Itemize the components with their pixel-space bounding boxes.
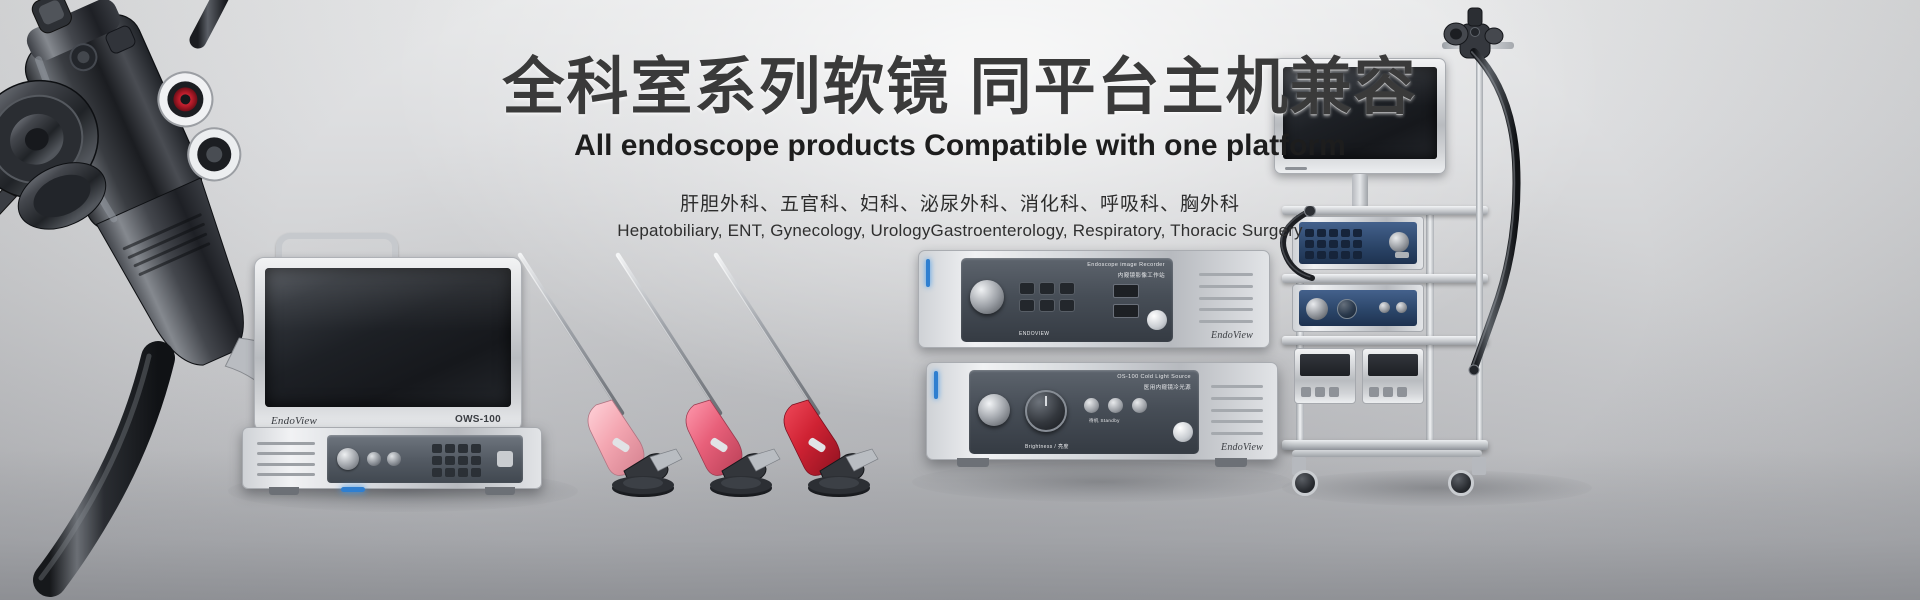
workstation-button-right[interactable]: [497, 451, 513, 467]
recorder-port-hdmi[interactable]: [1113, 304, 1139, 318]
recorder-power-button[interactable]: [1147, 310, 1167, 330]
lightsource-button-labels: 待机 Standby: [1089, 418, 1147, 424]
recorder-main-dial[interactable]: [970, 280, 1004, 314]
cart-module-3a: [1294, 348, 1356, 404]
cart-module-3b-display: [1368, 354, 1418, 376]
cart-module-3b-buttons[interactable]: [1369, 387, 1407, 397]
surgical-workstation: EndoView OWS-100: [232, 235, 562, 500]
recorder-brand: EndoView: [1211, 330, 1253, 341]
light-source-unit: OS-100 Cold Light Source 医用内窥镜冷光源 Bright…: [926, 362, 1278, 460]
processor-stack: Endoscope image Recorder 内窥镜影像工作站 ENDOVI…: [918, 250, 1278, 500]
banner-root: 全科室系列软镜 同平台主机兼容 All endoscope products C…: [0, 0, 1920, 600]
cart-caster-right: [1448, 470, 1474, 496]
workstation-knob-1[interactable]: [337, 448, 359, 470]
monitor-mount-arm: [1352, 174, 1368, 208]
lightsource-brand: EndoView: [1221, 442, 1263, 453]
cart-module-2-port[interactable]: [1306, 298, 1328, 320]
monitor-model: OWS-100: [455, 414, 501, 425]
recorder-model-en: Endoscope image Recorder: [1087, 262, 1165, 269]
workstation-vents: [257, 442, 315, 476]
lightsource-model-cn: 医用内窥镜冷光源: [1144, 383, 1191, 391]
monitor-screen: [265, 268, 511, 407]
image-recorder-unit: Endoscope image Recorder 内窥镜影像工作站 ENDOVI…: [918, 250, 1270, 348]
lightsource-btn-label-1: 待机 Standby: [1089, 418, 1120, 424]
lightsource-button-row[interactable]: [1084, 398, 1147, 413]
lightsource-vents: [1211, 385, 1263, 435]
cart-module-3a-display: [1300, 354, 1350, 376]
lightsource-model-en: OS-100 Cold Light Source: [1117, 374, 1191, 380]
workstation-control-panel: [327, 435, 523, 483]
lightsource-front-panel: OS-100 Cold Light Source 医用内窥镜冷光源 Bright…: [969, 370, 1199, 454]
recorder-button-grid[interactable]: [1019, 282, 1075, 312]
workstation-knob-2[interactable]: [367, 452, 381, 466]
cart-module-1-knob[interactable]: [1389, 232, 1409, 252]
workstation-power-indicator: [341, 487, 365, 492]
cart-base-bar: [1292, 450, 1482, 457]
monitor-bezel: EndoView OWS-100: [254, 257, 522, 432]
cart-module-3a-buttons[interactable]: [1301, 387, 1339, 397]
cart-coiled-cable: [1268, 206, 1338, 288]
workstation-knob-3[interactable]: [387, 452, 401, 466]
cart-caster-left: [1292, 470, 1318, 496]
monitor-brand: EndoView: [271, 415, 317, 427]
cart-module-3b: [1362, 348, 1424, 404]
cart-module-2-buttons[interactable]: [1379, 302, 1407, 313]
lightsource-brightness-dial[interactable]: [1025, 390, 1067, 432]
cart-monitor-screen: [1283, 67, 1437, 159]
cart-shelf-base: [1282, 440, 1488, 450]
cart-module-2-dial[interactable]: [1337, 299, 1357, 319]
workstation-keypad[interactable]: [432, 444, 481, 477]
recorder-port-usb[interactable]: [1113, 284, 1139, 298]
lightsource-output-port[interactable]: [978, 394, 1010, 426]
recorder-front-panel: Endoscope image Recorder 内窥镜影像工作站 ENDOVI…: [961, 258, 1173, 342]
recorder-power-indicator: [926, 259, 930, 287]
recorder-vents: [1199, 273, 1253, 323]
workstation-base: [242, 427, 542, 489]
cart-mounted-endoscope: [1416, 2, 1596, 402]
cart-module-2-panel: [1299, 290, 1417, 326]
lightsource-dial-label: Brightness / 亮度: [1025, 443, 1069, 450]
recorder-model-cn: 内窥镜影像工作站: [1118, 271, 1165, 279]
recorder-panel-label: ENDOVIEW: [1019, 331, 1049, 337]
cart-module-2: [1292, 284, 1424, 332]
lightsource-power-indicator: [934, 371, 938, 399]
lightsource-power-button[interactable]: [1173, 422, 1193, 442]
endoscopy-trolley-cart: [1290, 10, 1590, 500]
